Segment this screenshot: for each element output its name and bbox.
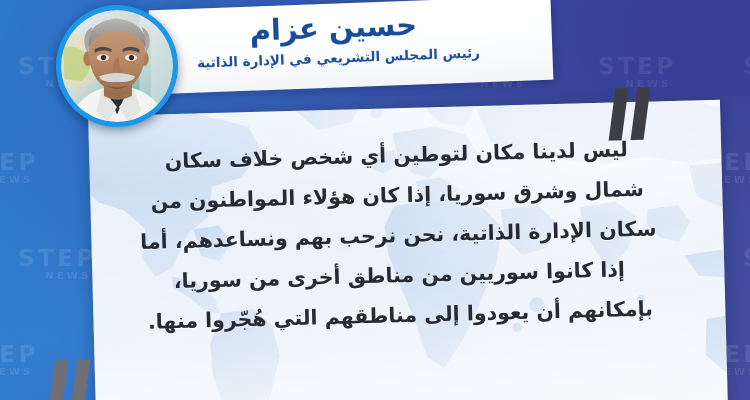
- quote-panel: ليس لدينا مكان لتوطين أي شخص خلاف سكانشم…: [88, 100, 728, 400]
- quote-stroke-2: [71, 360, 90, 400]
- quote-stroke-2: [631, 88, 651, 141]
- quote-card-graphic: STEPNEWSSTEPNEWSSTEPNEWSSTEPNEWSSTEPNEWS…: [0, 0, 750, 400]
- quote-stroke-1: [49, 360, 68, 400]
- closing-quote-mark: [51, 359, 96, 400]
- quote-text: ليس لدينا مكان لتوطين أي شخص خلاف سكانشم…: [115, 129, 682, 343]
- quote-stroke-1: [609, 88, 629, 141]
- avatar: [56, 5, 178, 127]
- speaker-banner: حسين عزام رئيس المجلس التشريعي في الإدار…: [149, 0, 554, 94]
- opening-quote-mark: [611, 87, 656, 140]
- avatar-photo: [61, 10, 173, 122]
